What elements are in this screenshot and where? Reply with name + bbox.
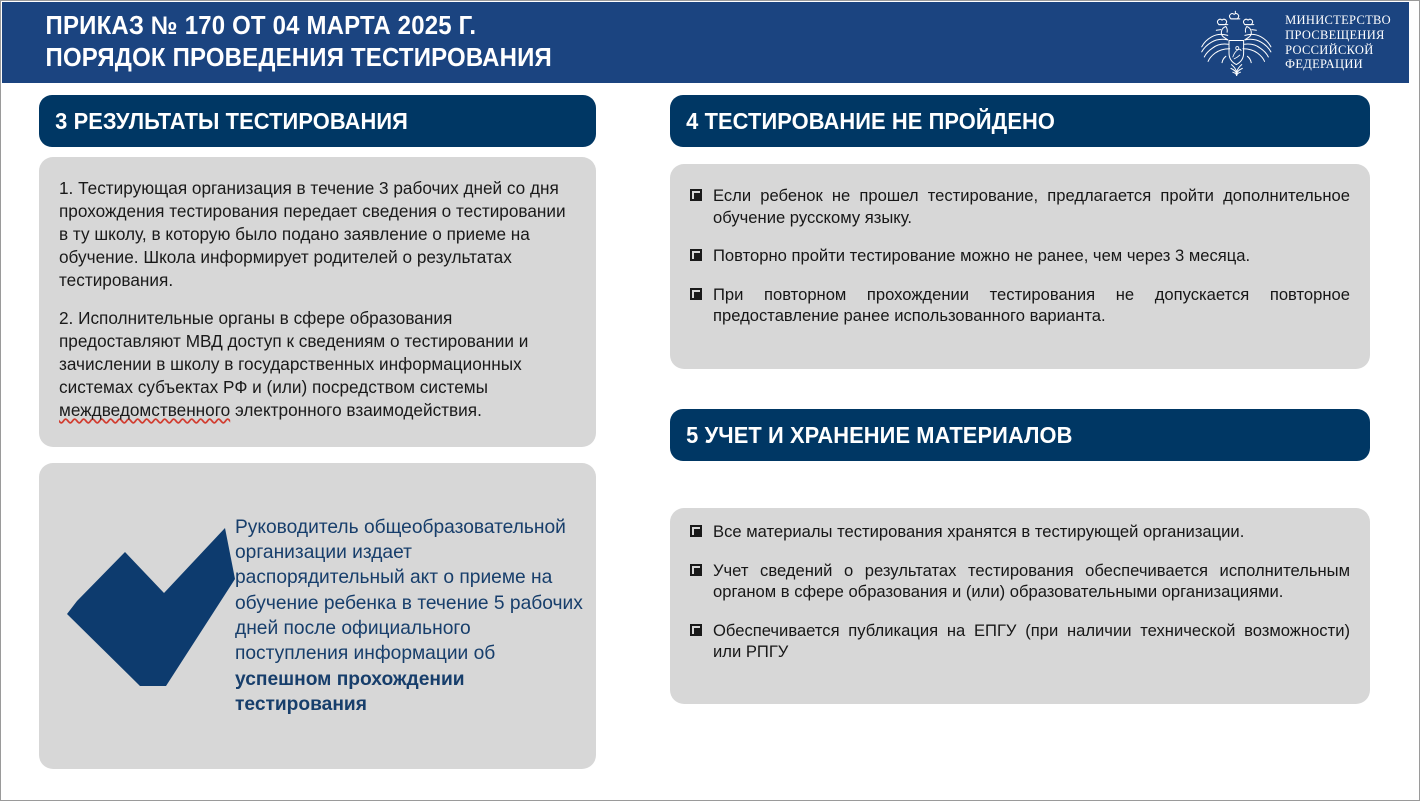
square-bullet-icon — [690, 564, 702, 576]
order-note-text-prefix: Руководитель общеобразовательной организ… — [235, 517, 583, 665]
ministry-branding: МИНИСТЕРСТВО ПРОСВЕЩЕНИЯ РОССИЙСКОЙ ФЕДЕ… — [1197, 10, 1409, 76]
square-bullet-icon — [690, 525, 702, 537]
list-item-text: Повторно пройти тестирование можно не ра… — [713, 246, 1250, 265]
results-card: 1. Тестирующая организация в течение 3 р… — [39, 157, 596, 447]
list-item: Учет сведений о результатах тестирования… — [688, 560, 1350, 603]
section-heading-storage-label: 5 УЧЕТ И ХРАНЕНИЕ МАТЕРИАЛОВ — [670, 422, 1072, 449]
double-headed-eagle-emblem — [1197, 10, 1275, 76]
section-heading-results-label: 3 РЕЗУЛЬТАТЫ ТЕСТИРОВАНИЯ — [39, 108, 408, 135]
square-bullet-icon — [690, 249, 702, 261]
section-heading-results: 3 РЕЗУЛЬТАТЫ ТЕСТИРОВАНИЯ — [39, 95, 596, 147]
results-paragraph-2-prefix: 2. Исполнительные органы в сфере образов… — [59, 308, 528, 397]
section-heading-failed: 4 ТЕСТИРОВАНИЕ НЕ ПРОЙДЕНО — [670, 95, 1370, 147]
header-left-rail — [2, 2, 23, 83]
list-item-text: Если ребенок не прошел тестирование, пре… — [713, 186, 1350, 227]
square-bullet-icon — [690, 189, 702, 201]
list-item-text: При повторном прохождении тестирования н… — [713, 285, 1350, 326]
order-note-card: Руководитель общеобразовательной организ… — [39, 463, 596, 769]
order-note-text-bold: успешном прохождении тестирования — [235, 669, 465, 715]
ministry-name: МИНИСТЕРСТВО ПРОСВЕЩЕНИЯ РОССИЙСКОЙ ФЕДЕ… — [1285, 13, 1391, 72]
square-bullet-icon — [690, 624, 702, 636]
results-misspelled-word: междведомственного — [59, 400, 230, 420]
results-paragraph-2: 2. Исполнительные органы в сфере образов… — [59, 307, 574, 421]
list-item-text: Обеспечивается публикация на ЕПГУ (при н… — [713, 621, 1350, 662]
slide-root: ПРИКАЗ № 170 ОТ 04 МАРТА 2025 Г. ПОРЯДОК… — [0, 0, 1420, 801]
list-item: Если ребенок не прошел тестирование, пре… — [688, 185, 1350, 228]
slide-header: ПРИКАЗ № 170 ОТ 04 МАРТА 2025 Г. ПОРЯДОК… — [23, 2, 1409, 83]
list-item-text: Учет сведений о результатах тестирования… — [713, 561, 1350, 602]
results-paragraph-2-suffix: электронного взаимодействия. — [230, 400, 482, 420]
list-item: Все материалы тестирования хранятся в те… — [688, 521, 1350, 543]
checkmark-icon — [53, 516, 235, 716]
section-heading-storage: 5 УЧЕТ И ХРАНЕНИЕ МАТЕРИАЛОВ — [670, 409, 1370, 461]
section-heading-failed-label: 4 ТЕСТИРОВАНИЕ НЕ ПРОЙДЕНО — [670, 108, 1055, 135]
failed-card: Если ребенок не прошел тестирование, пре… — [670, 164, 1370, 369]
storage-card: Все материалы тестирования хранятся в те… — [670, 508, 1370, 704]
list-item: Обеспечивается публикация на ЕПГУ (при н… — [688, 620, 1350, 663]
order-note-text: Руководитель общеобразовательной организ… — [235, 515, 596, 718]
results-paragraph-1: 1. Тестирующая организация в течение 3 р… — [59, 177, 574, 291]
list-item: Повторно пройти тестирование можно не ра… — [688, 245, 1350, 267]
list-item: При повторном прохождении тестирования н… — [688, 284, 1350, 327]
page-title: ПРИКАЗ № 170 ОТ 04 МАРТА 2025 Г. ПОРЯДОК… — [23, 11, 552, 73]
square-bullet-icon — [690, 288, 702, 300]
list-item-text: Все материалы тестирования хранятся в те… — [713, 522, 1244, 541]
failed-bullet-list: Если ребенок не прошел тестирование, пре… — [688, 185, 1350, 327]
storage-bullet-list: Все материалы тестирования хранятся в те… — [688, 521, 1350, 663]
